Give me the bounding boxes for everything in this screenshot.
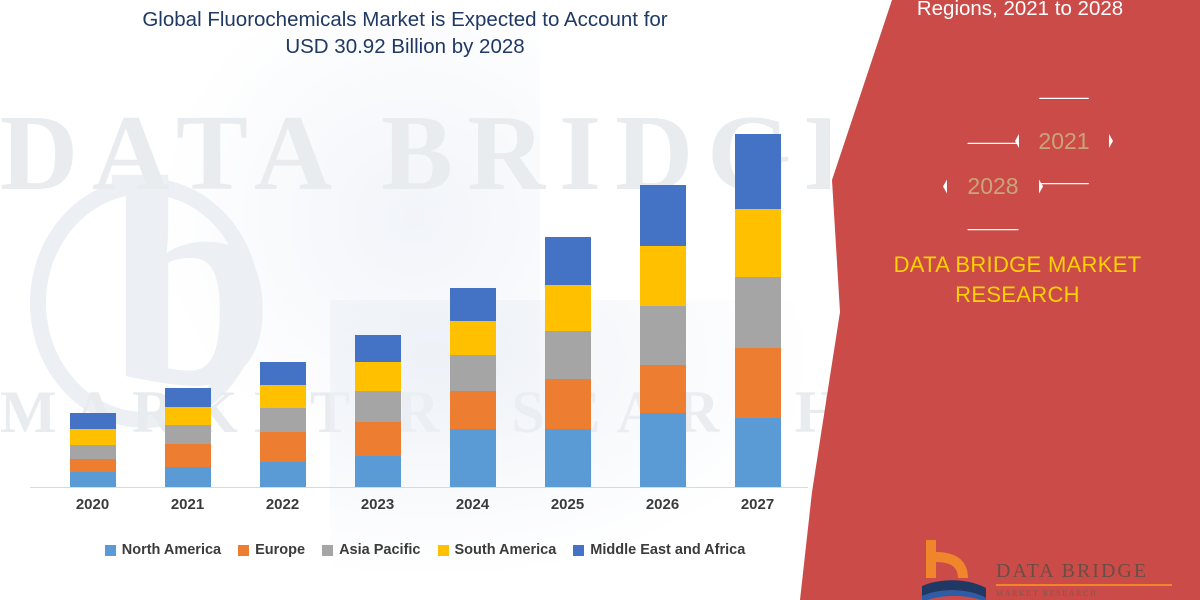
bar-segment[interactable] [735,348,781,418]
x-axis-label: 2026 [615,496,710,522]
bar-segment[interactable] [260,408,306,432]
legend-swatch-icon [573,545,584,556]
bar-segment[interactable] [165,388,211,407]
hexagon-group: 2028 2021 [800,95,1200,235]
stacked-bar[interactable] [640,185,686,488]
bar-segment[interactable] [640,365,686,413]
x-axis-label: 2027 [710,496,805,522]
x-axis-labels: 20202021202220232024202520262027 [45,496,805,522]
x-axis-label: 2025 [520,496,615,522]
stacked-bar[interactable] [545,237,591,488]
bar-segment[interactable] [260,362,306,385]
legend-swatch-icon [105,545,116,556]
brand-line-2: RESEARCH [835,280,1200,310]
bar-segment[interactable] [545,237,591,285]
bar-segment[interactable] [450,355,496,391]
bridge-logo-icon [920,538,990,600]
bar-segment[interactable] [640,413,686,488]
bar-segment[interactable] [260,432,306,462]
bar-segment[interactable] [735,134,781,209]
bar-segment[interactable] [70,472,116,488]
legend-swatch-icon [438,545,449,556]
x-axis-label: 2022 [235,496,330,522]
legend-item[interactable]: Middle East and Africa [573,542,745,558]
legend-item[interactable]: North America [105,542,221,558]
chart-title: Global Fluorochemicals Market is Expecte… [55,6,755,60]
legend-label: South America [455,542,557,558]
bar-segment[interactable] [640,306,686,365]
x-axis-label: 2024 [425,496,520,522]
bar-slot [615,110,710,488]
bar-segment[interactable] [640,246,686,306]
legend-label: Asia Pacific [339,542,420,558]
bar-slot [330,110,425,488]
bar-slot [140,110,235,488]
x-axis-label: 2020 [45,496,140,522]
x-axis-label: 2021 [140,496,235,522]
brand-block: DATA BRIDGE MARKET RESEARCH [800,250,1200,310]
bar-group [45,110,805,488]
hexagon-2021-label: 2021 [1038,128,1089,155]
bar-slot [520,110,615,488]
right-red-panel: Regions, 2021 to 2028 2028 2021 DATA BRI… [800,0,1200,600]
stacked-bar[interactable] [450,288,496,488]
chart-area: 20202021202220232024202520262027 North A… [0,0,830,600]
legend-item[interactable]: South America [438,542,557,558]
logo-tagline: MARKET RESEARCH [996,589,1186,598]
bar-segment[interactable] [735,277,781,348]
bar-segment[interactable] [165,407,211,425]
bar-segment[interactable] [545,429,591,488]
company-logo: DATA BRIDGE MARKET RESEARCH [910,530,1190,600]
chart-legend: North AmericaEuropeAsia PacificSouth Ame… [40,538,810,562]
stacked-bar[interactable] [735,134,781,488]
bar-segment[interactable] [545,285,591,331]
bar-segment[interactable] [260,385,306,408]
bar-segment[interactable] [355,422,401,456]
bar-segment[interactable] [450,429,496,488]
legend-swatch-icon [238,545,249,556]
chart-title-line-1: Global Fluorochemicals Market is Expecte… [55,6,755,33]
bar-segment[interactable] [450,391,496,429]
bar-slot [235,110,330,488]
x-axis-line [30,487,808,488]
bar-slot [425,110,520,488]
stacked-bar[interactable] [70,413,116,488]
bar-segment[interactable] [260,462,306,488]
chart-title-line-2: USD 30.92 Billion by 2028 [55,33,755,60]
bar-slot [45,110,140,488]
bar-segment[interactable] [545,331,591,379]
x-axis-label: 2023 [330,496,425,522]
legend-item[interactable]: Europe [238,542,305,558]
infographic-root: b DATA BRIDGE MARKET RESEARCH Global Flu… [0,0,1200,600]
legend-label: Middle East and Africa [590,542,745,558]
bar-segment[interactable] [70,413,116,429]
right-panel-heading: Regions, 2021 to 2028 [800,0,1200,22]
stacked-bar[interactable] [355,335,401,488]
bar-segment[interactable] [70,429,116,445]
plot-area [45,110,805,488]
bar-segment[interactable] [735,418,781,488]
legend-label: Europe [255,542,305,558]
brand-line-1: DATA BRIDGE MARKET [835,250,1200,280]
hexagon-2028-label: 2028 [967,173,1018,200]
bar-segment[interactable] [70,459,116,472]
bar-segment[interactable] [545,379,591,429]
bar-segment[interactable] [355,335,401,362]
bar-segment[interactable] [355,391,401,422]
bar-segment[interactable] [355,362,401,391]
bar-segment[interactable] [735,209,781,277]
bar-segment[interactable] [165,444,211,467]
bar-segment[interactable] [70,445,116,459]
stacked-bar[interactable] [260,362,306,488]
bar-segment[interactable] [450,321,496,355]
legend-item[interactable]: Asia Pacific [322,542,420,558]
legend-label: North America [122,542,221,558]
bar-slot [710,110,805,488]
bar-segment[interactable] [165,425,211,444]
bar-segment[interactable] [450,288,496,321]
bar-segment[interactable] [165,467,211,488]
bar-segment[interactable] [355,456,401,488]
logo-divider [996,584,1172,586]
logo-company-name: DATA BRIDGE [996,560,1186,582]
stacked-bar[interactable] [165,388,211,488]
legend-swatch-icon [322,545,333,556]
bar-segment[interactable] [640,185,686,246]
